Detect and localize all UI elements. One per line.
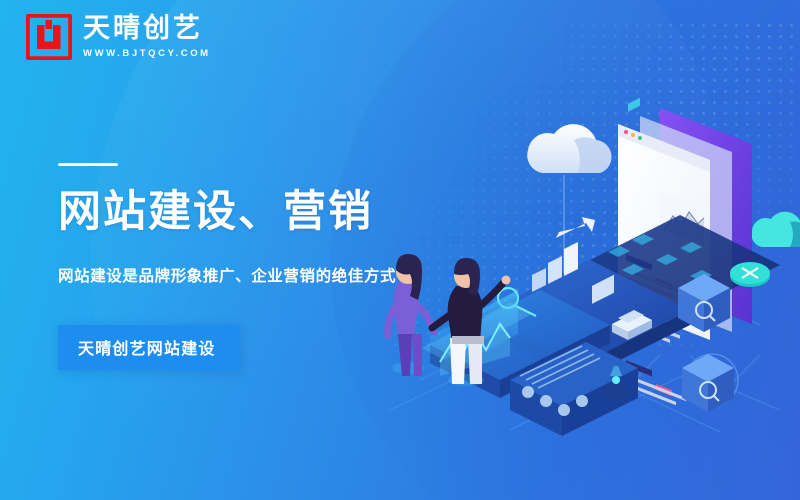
logo-mark-icon [26, 14, 72, 60]
headline-rule [58, 163, 118, 166]
hero-copy-block: 网站建设、营销 网站建设是品牌形象推广、企业营销的绝佳方式 天晴创艺网站建设 [58, 163, 396, 370]
data-cube [682, 354, 734, 412]
person-left [388, 254, 434, 376]
page-title: 网站建设、营销 [58, 188, 396, 237]
hero-subtitle: 网站建设是品牌形象推广、企业营销的绝佳方式 [58, 266, 396, 288]
logo-company-name: 天晴创艺 [83, 15, 211, 43]
hero-illustration [360, 80, 800, 480]
cta-button[interactable]: 天晴创艺网站建设 [58, 325, 240, 370]
hero-banner: 天晴创艺 WWW.BJTQCY.COM 网站建设、营销 网站建设是品牌形象推广、… [0, 0, 800, 500]
cloud-cyan-icon [751, 212, 800, 247]
status-badge [730, 262, 770, 287]
site-logo[interactable]: 天晴创艺 WWW.BJTQCY.COM [26, 14, 211, 60]
logo-website-url: WWW.BJTQCY.COM [83, 48, 211, 59]
